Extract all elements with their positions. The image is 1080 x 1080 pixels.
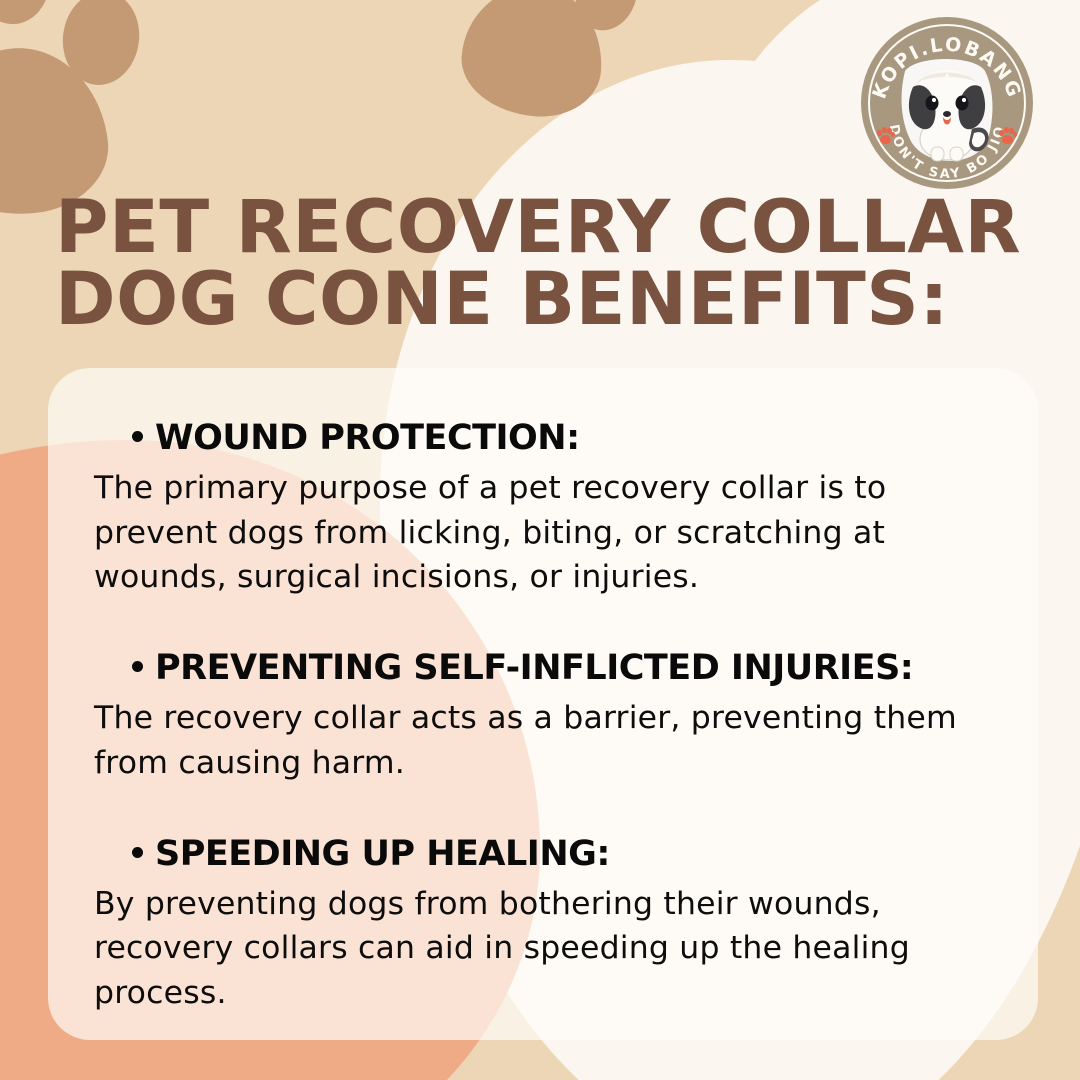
logo-paw-icon bbox=[999, 127, 1017, 145]
benefit-item: SPEEDING UP HEALING: By preventing dogs … bbox=[94, 834, 992, 1016]
poster-canvas: KOPI.LOBANG DON'T SAY BO JIO bbox=[0, 0, 1080, 1080]
dog-mascot-icon bbox=[861, 17, 1033, 189]
benefit-heading: SPEEDING UP HEALING: bbox=[94, 834, 992, 874]
benefit-item: PREVENTING SELF-INFLICTED INJURIES: The … bbox=[94, 648, 992, 785]
benefit-body: The primary purpose of a pet recovery co… bbox=[94, 466, 992, 600]
benefit-item: WOUND PROTECTION: The primary purpose of… bbox=[94, 418, 992, 600]
page-title: PET RECOVERY COLLAR DOG CONE BENEFITS: bbox=[55, 192, 955, 335]
benefit-heading-text: PREVENTING SELF-INFLICTED INJURIES: bbox=[155, 648, 913, 688]
bullet-icon bbox=[132, 431, 143, 442]
brand-logo-badge[interactable]: KOPI.LOBANG DON'T SAY BO JIO bbox=[861, 17, 1033, 189]
benefit-body: The recovery collar acts as a barrier, p… bbox=[94, 696, 992, 785]
benefits-card: WOUND PROTECTION: The primary purpose of… bbox=[48, 368, 1038, 1040]
title-line-1: PET RECOVERY COLLAR bbox=[55, 192, 955, 264]
logo-paw-icon bbox=[877, 127, 895, 145]
title-line-2: DOG CONE BENEFITS: bbox=[55, 264, 955, 336]
bullet-icon bbox=[132, 847, 143, 858]
benefit-heading: WOUND PROTECTION: bbox=[94, 418, 992, 458]
bullet-icon bbox=[132, 661, 143, 672]
benefit-heading: PREVENTING SELF-INFLICTED INJURIES: bbox=[94, 648, 992, 688]
benefit-heading-text: WOUND PROTECTION: bbox=[155, 418, 580, 458]
paw-print-icon bbox=[444, 0, 680, 177]
benefit-body: By preventing dogs from bothering their … bbox=[94, 882, 992, 1016]
benefit-heading-text: SPEEDING UP HEALING: bbox=[155, 834, 610, 874]
